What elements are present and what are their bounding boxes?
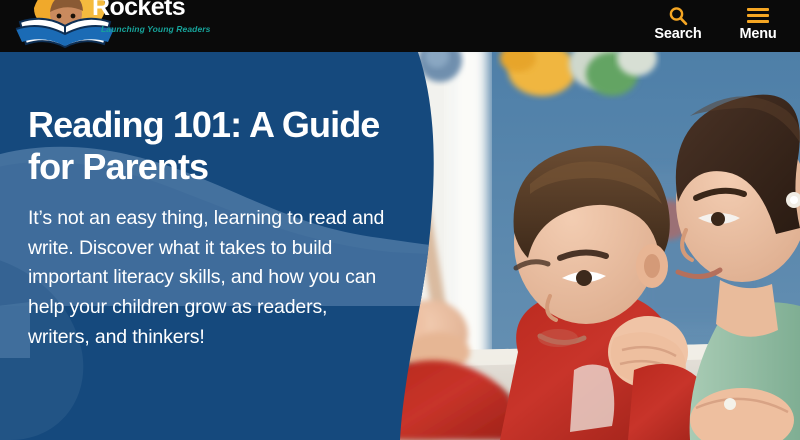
page-title: Reading 101: A Guide for Parents (28, 104, 393, 188)
menu-button-label: Menu (739, 27, 776, 49)
brand-line-2: Rockets (92, 0, 212, 18)
hero-photo-boy-and-adult-reading (390, 52, 800, 440)
brand-tagline: Launching Young Readers (101, 24, 211, 34)
search-icon (668, 6, 688, 26)
search-button-label: Search (654, 27, 701, 49)
site-logo-link[interactable]: Reading Rockets Launching Young Readers (4, 0, 204, 52)
hamburger-menu-icon (747, 6, 769, 26)
hero-content: Reading 101: A Guide for Parents It’s no… (28, 104, 393, 352)
brand-wordmark: Reading Rockets (92, 0, 212, 18)
menu-button[interactable]: Menu (720, 0, 796, 48)
site-header: Reading Rockets Launching Young Readers … (0, 0, 800, 52)
page-root: Reading 101: A Guide for Parents It’s no… (0, 0, 800, 440)
hero-description: It’s not an easy thing, learning to read… (28, 204, 393, 352)
search-button[interactable]: Search (640, 0, 716, 48)
